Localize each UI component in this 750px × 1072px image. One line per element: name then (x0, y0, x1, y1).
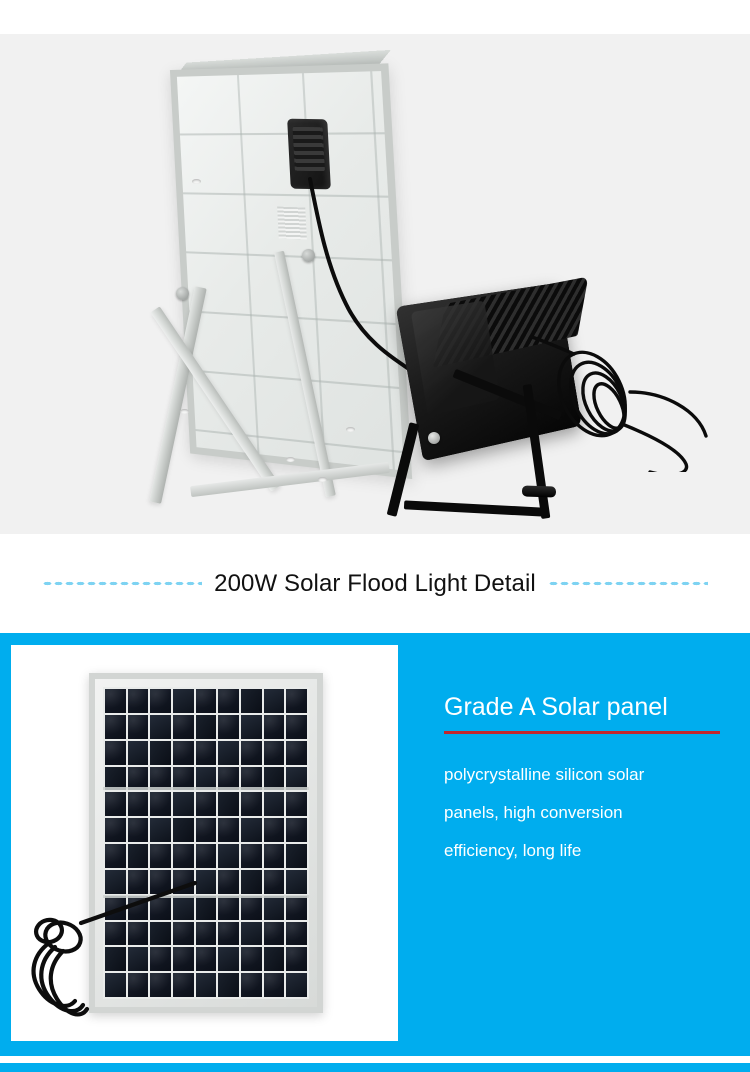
pv-cell (218, 844, 239, 868)
pv-cell (105, 792, 126, 816)
footer-blue-strip (0, 1063, 750, 1072)
pv-cell (264, 973, 285, 997)
pv-cell (241, 922, 262, 946)
pv-cell (241, 792, 262, 816)
pv-cell (218, 870, 239, 894)
footer-gap (0, 1056, 750, 1063)
pv-cell (105, 689, 126, 713)
pv-cell (286, 715, 307, 739)
pv-cell (218, 689, 239, 713)
pv-cell (196, 844, 217, 868)
bracket-pivot-screw-rear (302, 249, 315, 262)
pv-cell (218, 741, 239, 765)
pv-cell (150, 689, 171, 713)
feature-heading: Grade A Solar panel (444, 693, 734, 722)
flood-bracket-bottom (404, 500, 544, 516)
frame-mount-hole (192, 179, 201, 184)
section-title: 200W Solar Flood Light Detail (214, 570, 536, 598)
pv-cell (128, 818, 149, 842)
pv-cell (286, 818, 307, 842)
pv-cell (128, 715, 149, 739)
pv-cell (218, 715, 239, 739)
bracket-foot-bar (190, 462, 390, 497)
pv-cell (128, 792, 149, 816)
feature-description-line: efficiency, long life (444, 832, 734, 870)
pv-cell (105, 844, 126, 868)
pv-busbar-upper (103, 787, 309, 790)
dotted-divider-left (42, 581, 202, 586)
pv-cell (264, 896, 285, 920)
pv-cell (218, 792, 239, 816)
pv-cell (173, 792, 194, 816)
pv-cell (241, 715, 262, 739)
pv-cell (150, 792, 171, 816)
pv-cell (105, 818, 126, 842)
pv-cell (218, 973, 239, 997)
pv-cell (286, 947, 307, 971)
pv-cell (264, 792, 285, 816)
pv-cell (241, 689, 262, 713)
pv-cell (264, 947, 285, 971)
pv-cell (150, 715, 171, 739)
feature-description-line: polycrystalline silicon solar (444, 756, 734, 794)
pv-cell (286, 689, 307, 713)
pv-cell (241, 741, 262, 765)
pv-cell (241, 947, 262, 971)
heading-underline (444, 731, 720, 734)
pv-cell (264, 715, 285, 739)
pv-cell (286, 844, 307, 868)
bracket-hole-mid (286, 457, 295, 462)
pv-cell (241, 818, 262, 842)
pv-cell (128, 689, 149, 713)
pv-cell (150, 741, 171, 765)
product-detail-page: 200W Solar Flood Light Detail (0, 0, 750, 1072)
pv-cell (173, 715, 194, 739)
flood-light-illustration (380, 272, 710, 532)
pv-cell (286, 870, 307, 894)
solar-panel-photo (11, 645, 398, 1041)
pv-cell (105, 715, 126, 739)
pv-cell (150, 844, 171, 868)
pv-cell (286, 896, 307, 920)
bracket-hole-left (180, 409, 189, 414)
feature-text-column: Grade A Solar panel polycrystalline sili… (444, 693, 734, 870)
pv-cell (218, 818, 239, 842)
solar-panel-rear-illustration (150, 59, 410, 509)
pv-cell (286, 741, 307, 765)
pv-cell (264, 689, 285, 713)
pv-cell (196, 715, 217, 739)
pv-cell (241, 896, 262, 920)
feature-section: Grade A Solar panel polycrystalline sili… (0, 633, 750, 1056)
junction-box (287, 119, 331, 190)
pv-cell (218, 947, 239, 971)
pv-cell (196, 792, 217, 816)
pv-cell (173, 844, 194, 868)
tilt-adjust-screw (428, 432, 440, 444)
pv-cell (264, 870, 285, 894)
pv-cell (150, 818, 171, 842)
pv-cell (128, 741, 149, 765)
pv-cell (196, 741, 217, 765)
pv-cell (286, 922, 307, 946)
pv-cell (286, 792, 307, 816)
spec-label (277, 207, 307, 240)
pv-cell (196, 818, 217, 842)
flood-light-coiled-cable (530, 332, 720, 472)
pv-module-cable (19, 877, 199, 1027)
bracket-hole-right (346, 427, 355, 432)
waterproof-connector (522, 485, 556, 497)
bracket-hole-front (318, 477, 327, 482)
pv-cell (264, 844, 285, 868)
pv-cell (173, 741, 194, 765)
pv-cell (286, 973, 307, 997)
section-title-band: 200W Solar Flood Light Detail (0, 534, 750, 633)
pv-cell (128, 844, 149, 868)
pv-cell (241, 973, 262, 997)
feature-description-line: panels, high conversion (444, 794, 734, 832)
pv-cell (105, 741, 126, 765)
pv-cell (241, 870, 262, 894)
pv-cell (218, 896, 239, 920)
pv-cell (173, 689, 194, 713)
pv-cell (264, 741, 285, 765)
pv-cell (264, 818, 285, 842)
feature-description: polycrystalline silicon solar panels, hi… (444, 756, 734, 870)
pv-cell (218, 922, 239, 946)
bracket-pivot-screw (176, 287, 189, 300)
hero-product-photo (0, 34, 750, 534)
pv-cell (196, 689, 217, 713)
pv-cell (173, 818, 194, 842)
dotted-divider-right (548, 581, 708, 586)
pv-cell (241, 844, 262, 868)
pv-cell (264, 922, 285, 946)
